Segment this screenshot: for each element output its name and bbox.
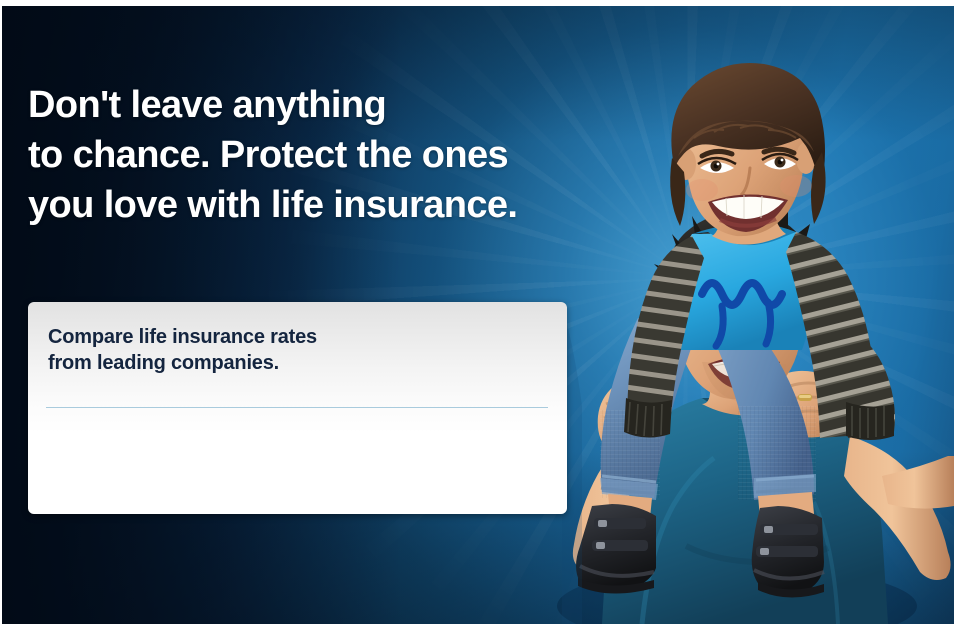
card-heading: Compare life insurance rates from leadin… <box>48 324 528 376</box>
card-divider <box>46 407 548 408</box>
card-form-area[interactable] <box>48 422 548 502</box>
quote-form-card[interactable]: Compare life insurance rates from leadin… <box>28 302 567 514</box>
card-heading-line-2: from leading companies. <box>48 350 528 376</box>
headline-line-3: you love with life insurance. <box>28 180 628 230</box>
headline-line-2: to chance. Protect the ones <box>28 130 628 180</box>
headline-line-1: Don't leave anything <box>28 80 628 130</box>
card-heading-line-1: Compare life insurance rates <box>48 324 528 350</box>
banner-artwork: Don't leave anything to chance. Protect … <box>2 6 954 624</box>
banner-headline: Don't leave anything to chance. Protect … <box>28 80 628 230</box>
life-insurance-banner: Don't leave anything to chance. Protect … <box>0 0 956 630</box>
